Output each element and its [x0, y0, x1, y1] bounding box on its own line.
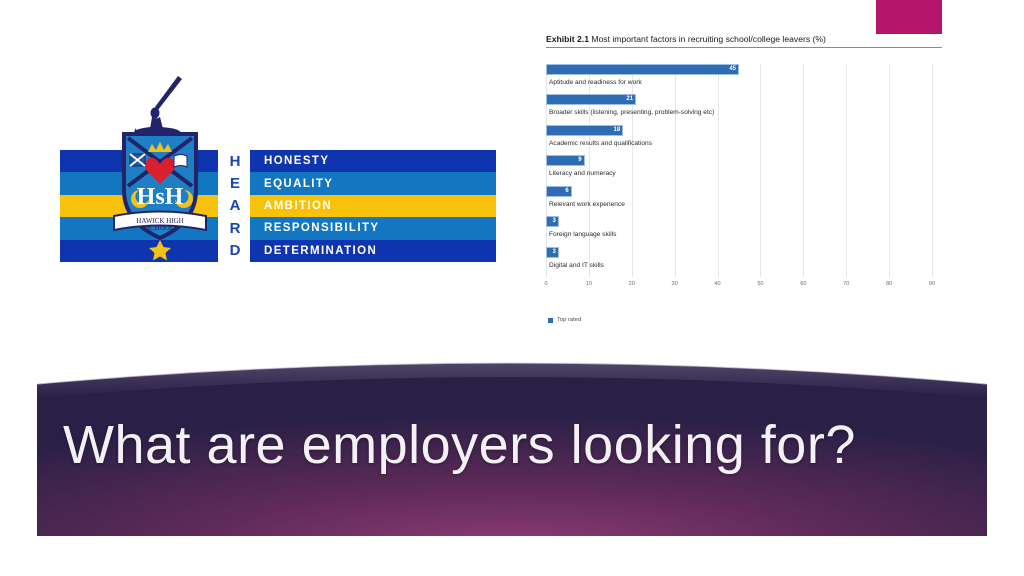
- bar-label-5: Relevant work experience: [549, 201, 625, 208]
- value-label-ambition: AMBITION: [250, 200, 332, 212]
- chart-title-rest: Most important factors in recruiting sch…: [589, 34, 826, 44]
- heard-acronym-column: H E A R D: [218, 150, 252, 262]
- bar-value-7: 3: [546, 247, 559, 258]
- chart-plot-area: 45Aptitude and readiness for work21Broad…: [546, 64, 932, 299]
- xtick-70: 70: [843, 281, 849, 287]
- bar-value-6: 3: [546, 216, 559, 227]
- xtick-30: 30: [672, 281, 678, 287]
- xtick-90: 90: [929, 281, 935, 287]
- value-row-equality: EQUALITY: [250, 172, 496, 194]
- bar-label-6: Foreign language skills: [549, 231, 616, 238]
- value-label-equality: EQUALITY: [250, 178, 333, 190]
- book-icon: [174, 155, 187, 168]
- chart-bar-row: 45Aptitude and readiness for work: [546, 64, 932, 94]
- title-banner: What are employers looking for?: [37, 358, 987, 536]
- crest-monogram: HsH: [137, 184, 184, 210]
- xtick-80: 80: [886, 281, 892, 287]
- chart-legend: Top rated: [548, 317, 581, 323]
- xtick-40: 40: [714, 281, 720, 287]
- bar-value-2: 21: [546, 94, 636, 105]
- hawick-high-school-crest: HsH HAWICK HIGH SCHOOL: [100, 70, 220, 270]
- slide-canvas: HsH HAWICK HIGH SCHOOL H E A R D HONESTY…: [0, 0, 1024, 576]
- xtick-20: 20: [629, 281, 635, 287]
- acronym-letter-d: D: [230, 243, 241, 258]
- bar-value-3: 18: [546, 125, 623, 136]
- chart-bar-row: 18Academic results and qualifications: [546, 125, 932, 155]
- value-row-responsibility: RESPONSIBILITY: [250, 217, 496, 239]
- value-row-ambition: AMBITION: [250, 195, 496, 217]
- chart-bar-row: 21Broader skills (listening, presenting,…: [546, 94, 932, 124]
- value-label-honesty: HONESTY: [250, 155, 329, 167]
- value-label-determination: DETERMINATION: [250, 245, 377, 257]
- xtick-10: 10: [586, 281, 592, 287]
- star-icon: [149, 240, 171, 261]
- chart-title: Exhibit 2.1 Most important factors in re…: [540, 34, 948, 47]
- chart-bar-row: 3Foreign language skills: [546, 216, 932, 246]
- xtick-50: 50: [757, 281, 763, 287]
- chart-x-axis: 0102030405060708090: [546, 281, 932, 295]
- bar-label-4: Literacy and numeracy: [549, 170, 616, 177]
- crest-banner-line2: SCHOOL: [146, 224, 174, 232]
- chart-title-rule: [546, 47, 942, 48]
- value-row-determination: DETERMINATION: [250, 240, 496, 262]
- bar-value-1: 45: [546, 64, 739, 75]
- magenta-block-top: [876, 0, 942, 36]
- acronym-letter-r: R: [230, 221, 241, 236]
- bar-value-5: 6: [546, 186, 572, 197]
- chart-bar-row: 6Relevant work experience: [546, 186, 932, 216]
- acronym-letter-h: H: [230, 154, 241, 169]
- chart-bar-row: 3Digital and IT skills: [546, 247, 932, 277]
- acronym-letter-e: E: [230, 176, 240, 191]
- bar-value-4: 9: [546, 155, 585, 166]
- value-row-honesty: HONESTY: [250, 150, 496, 172]
- xtick-60: 60: [800, 281, 806, 287]
- gridline-90: [932, 64, 933, 277]
- chart-exhibit-label: Exhibit 2.1: [546, 34, 589, 44]
- legend-swatch-top-rated: [548, 318, 553, 323]
- legend-label-top-rated: Top rated: [557, 317, 581, 323]
- value-word-rows: HONESTY EQUALITY AMBITION RESPONSIBILITY…: [250, 150, 496, 262]
- slide-title: What are employers looking for?: [63, 414, 963, 476]
- value-label-responsibility: RESPONSIBILITY: [250, 222, 379, 234]
- bar-label-3: Academic results and qualifications: [549, 140, 652, 147]
- xtick-0: 0: [544, 281, 547, 287]
- acronym-letter-a: A: [230, 198, 241, 213]
- bar-label-7: Digital and IT skills: [549, 262, 604, 269]
- bar-label-1: Aptitude and readiness for work: [549, 79, 642, 86]
- employer-factors-chart: Exhibit 2.1 Most important factors in re…: [540, 34, 948, 329]
- school-values-graphic: HsH HAWICK HIGH SCHOOL H E A R D HONESTY…: [60, 70, 500, 270]
- chart-bar-row: 9Literacy and numeracy: [546, 155, 932, 185]
- bar-label-2: Broader skills (listening, presenting, p…: [549, 109, 714, 116]
